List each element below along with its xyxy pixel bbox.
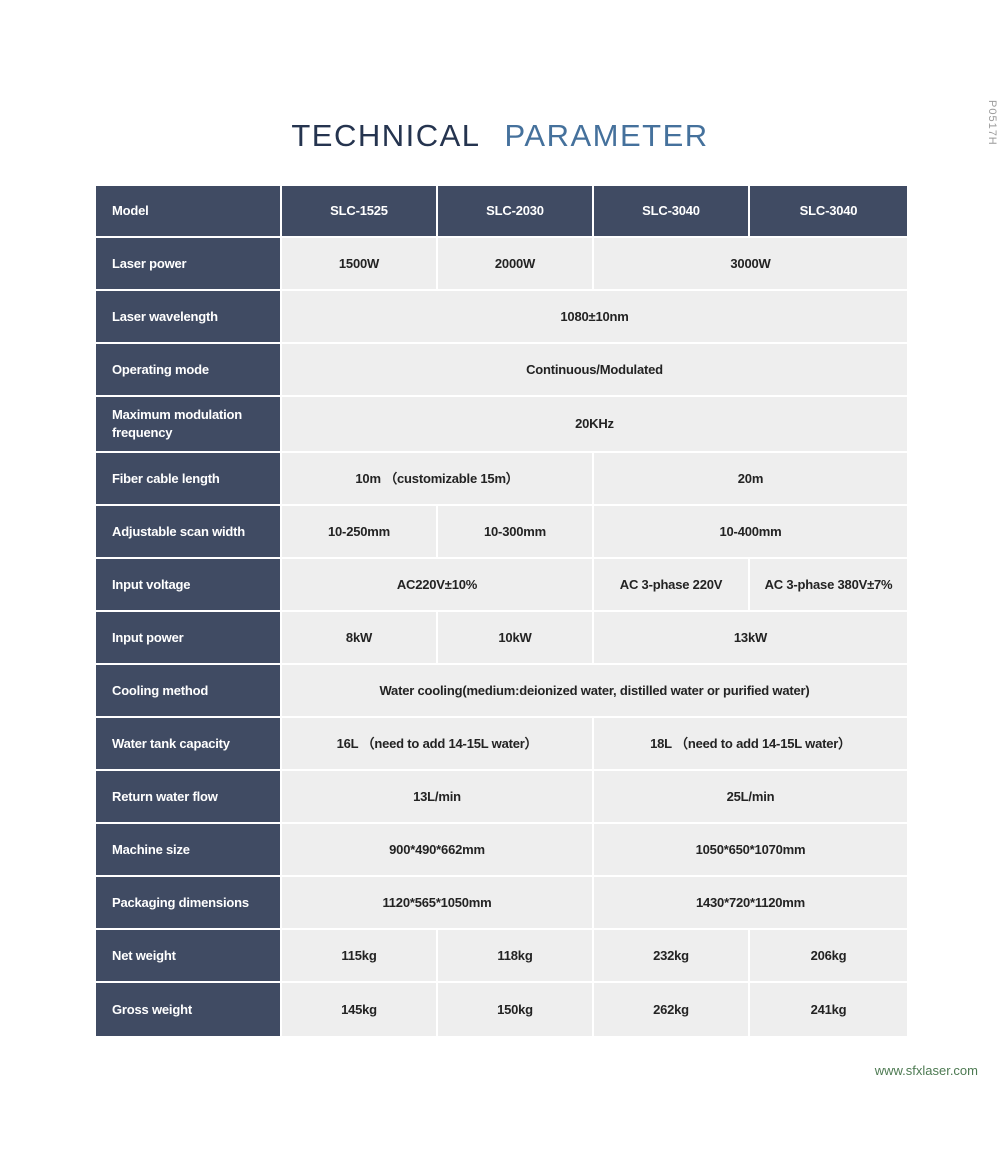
table-cell: 10m （customizable 15m） [282, 453, 594, 506]
table-row-label: Net weight [96, 930, 282, 983]
table-row-label: Cooling method [96, 665, 282, 718]
table-header-model-1: SLC-1525 [282, 186, 438, 238]
table-cell: 2000W [438, 238, 594, 291]
table-cell: 10-300mm [438, 506, 594, 559]
table-cell: Continuous/Modulated [282, 344, 907, 397]
table-row: Machine size900*490*662mm1050*650*1070mm [96, 824, 907, 877]
table-row-label: Operating mode [96, 344, 282, 397]
table-body: ModelSLC-1525SLC-2030SLC-3040SLC-3040Las… [96, 186, 907, 1036]
table-cell: 145kg [282, 983, 438, 1036]
table-row-label: Fiber cable length [96, 453, 282, 506]
table-cell: 900*490*662mm [282, 824, 594, 877]
table-cell: 16L （need to add 14-15L water） [282, 718, 594, 771]
table-row: Cooling methodWater cooling(medium:deion… [96, 665, 907, 718]
table-cell: 25L/min [594, 771, 907, 824]
table-cell: 13L/min [282, 771, 594, 824]
table-cell: 3000W [594, 238, 907, 291]
page-title-word-parameter: Parameter [505, 107, 709, 156]
table-cell: 150kg [438, 983, 594, 1036]
table-cell: 1500W [282, 238, 438, 291]
table-cell: AC220V±10% [282, 559, 594, 612]
table-row: Laser power1500W2000W3000W [96, 238, 907, 291]
table-header-model-2: SLC-2030 [438, 186, 594, 238]
table-row-label: Packaging dimensions [96, 877, 282, 930]
table-cell: 1050*650*1070mm [594, 824, 907, 877]
table-cell: 206kg [750, 930, 907, 983]
table-row-label: Gross weight [96, 983, 282, 1036]
table-row-label: Water tank capacity [96, 718, 282, 771]
table-row: Return water flow13L/min25L/min [96, 771, 907, 824]
table-row-label: Input voltage [96, 559, 282, 612]
table-cell: AC 3-phase 220V [594, 559, 750, 612]
table-row: Water tank capacity16L （need to add 14-1… [96, 718, 907, 771]
table-header-row: ModelSLC-1525SLC-2030SLC-3040SLC-3040 [96, 186, 907, 238]
technical-parameter-table: ModelSLC-1525SLC-2030SLC-3040SLC-3040Las… [96, 186, 907, 1036]
table-row: Input voltageAC220V±10%AC 3-phase 220VAC… [96, 559, 907, 612]
page-title-word-technical: Technical [291, 107, 480, 156]
table-cell: 20KHz [282, 397, 907, 453]
table-cell: 1080±10nm [282, 291, 907, 344]
table-row: Adjustable scan width10-250mm10-300mm10-… [96, 506, 907, 559]
table-row: Input power8kW10kW13kW [96, 612, 907, 665]
table-cell: AC 3-phase 380V±7% [750, 559, 907, 612]
table-cell: 13kW [594, 612, 907, 665]
table-cell: 20m [594, 453, 907, 506]
footer-website-url: www.sfxlaser.com [875, 1063, 978, 1078]
table-row-label: Machine size [96, 824, 282, 877]
table-cell: 10kW [438, 612, 594, 665]
table-cell: 10-250mm [282, 506, 438, 559]
table-row: Maximum modulation frequency20KHz [96, 397, 907, 453]
table-row: Packaging dimensions1120*565*1050mm1430*… [96, 877, 907, 930]
table-cell: 232kg [594, 930, 750, 983]
table-row-label: Laser wavelength [96, 291, 282, 344]
table-cell: 8kW [282, 612, 438, 665]
table-cell: 118kg [438, 930, 594, 983]
table-row: Operating modeContinuous/Modulated [96, 344, 907, 397]
table-cell: 1430*720*1120mm [594, 877, 907, 930]
table-row: Gross weight145kg150kg262kg241kg [96, 983, 907, 1036]
table-row-label: Laser power [96, 238, 282, 291]
table-cell: 115kg [282, 930, 438, 983]
table-header-label: Model [96, 186, 282, 238]
table-cell: 10-400mm [594, 506, 907, 559]
table-row: Net weight115kg118kg232kg206kg [96, 930, 907, 983]
table-row-label: Adjustable scan width [96, 506, 282, 559]
table-row-label: Input power [96, 612, 282, 665]
table-cell: Water cooling(medium:deionized water, di… [282, 665, 907, 718]
table-header-model-4: SLC-3040 [750, 186, 907, 238]
table-cell: 241kg [750, 983, 907, 1036]
table-header-model-3: SLC-3040 [594, 186, 750, 238]
table-row: Fiber cable length10m （customizable 15m）… [96, 453, 907, 506]
table-cell: 262kg [594, 983, 750, 1036]
table-row: Laser wavelength1080±10nm [96, 291, 907, 344]
table-row-label: Maximum modulation frequency [96, 397, 282, 453]
table-cell: 18L （need to add 14-15L water） [594, 718, 907, 771]
table-row-label: Return water flow [96, 771, 282, 824]
page-title: TechnicalParameter [0, 110, 1000, 154]
table-cell: 1120*565*1050mm [282, 877, 594, 930]
